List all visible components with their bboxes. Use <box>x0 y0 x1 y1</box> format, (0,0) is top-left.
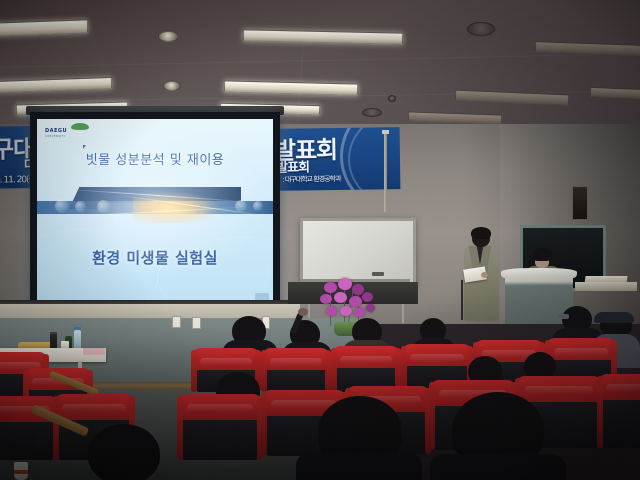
band-bubble <box>253 201 263 211</box>
presenter-hand <box>481 272 488 278</box>
lectern-top <box>501 268 577 278</box>
auditorium-seat <box>266 352 326 392</box>
napkin <box>83 348 105 355</box>
ceiling-vent-icon <box>388 95 396 102</box>
standing-presenter <box>458 228 504 328</box>
microphone-stand <box>461 280 463 320</box>
ceiling-downlight-icon <box>158 31 179 42</box>
wall-outlet <box>172 316 181 328</box>
ceiling-vent-icon <box>362 108 382 117</box>
audience-torso-foreground <box>296 452 422 480</box>
ceiling-downlight-icon <box>163 81 181 91</box>
slide-title: 빗물 성분분석 및 재이용 <box>37 149 273 168</box>
auditorium-seat <box>182 398 258 460</box>
band-bubble <box>55 199 69 213</box>
slide-logo-subtext: UNIVERSITY <box>45 134 66 138</box>
presenter-hair <box>471 227 491 239</box>
audience-torso-foreground <box>430 454 566 480</box>
eyeglasses-icon <box>558 314 569 319</box>
university-emblem-icon <box>71 123 89 130</box>
wall-outlet <box>192 317 201 329</box>
presentation-slide: DAEGU UNIVERSITY 빗물 성분분석 및 재이용 환경 미생물 실험… <box>37 119 273 304</box>
speaker-hair <box>532 248 552 261</box>
wall-speaker <box>572 186 588 220</box>
baseball-cap-icon <box>594 312 634 323</box>
booth-ledge <box>575 282 637 291</box>
band-bubble <box>75 201 86 212</box>
audience-head-foreground <box>88 424 160 480</box>
slide-subtitle: 환경 미생물 실험실 <box>37 247 273 268</box>
band-bubble <box>97 200 110 213</box>
auditorium-photo: 구대 대구 09. 11. 20(금) 발표회 발표회 : 대구대학교 환경공학… <box>0 0 640 480</box>
ceiling-vent-icon <box>467 22 495 36</box>
water-bottle <box>74 330 81 350</box>
slide-logo: DAEGU UNIVERSITY <box>45 123 95 139</box>
paper-cup-band <box>14 470 28 474</box>
audience-hand <box>298 308 308 316</box>
auditorium-seat <box>602 378 640 448</box>
